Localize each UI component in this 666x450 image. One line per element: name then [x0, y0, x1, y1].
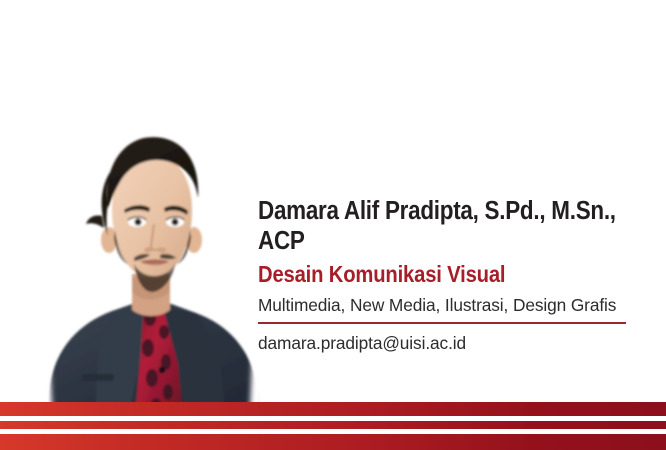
person-expertise-fields: Multimedia, New Media, Ilustrasi, Design…	[258, 294, 650, 316]
person-email: damara.pradipta@uisi.ac.id	[258, 332, 650, 354]
portrait-photo	[38, 112, 263, 407]
person-name: Damara Alif Pradipta, S.Pd., M.Sn., ACP	[258, 196, 650, 256]
person-department: Desain Komunikasi Visual	[258, 260, 650, 288]
stripe-top	[0, 402, 666, 416]
profile-info: Damara Alif Pradipta, S.Pd., M.Sn., ACP …	[258, 196, 650, 354]
bottom-stripe-band	[0, 402, 666, 450]
faculty-profile-card: Damara Alif Pradipta, S.Pd., M.Sn., ACP …	[0, 0, 666, 450]
divider	[258, 322, 626, 324]
stripe-bottom	[0, 434, 666, 450]
stripe-middle	[0, 421, 666, 429]
